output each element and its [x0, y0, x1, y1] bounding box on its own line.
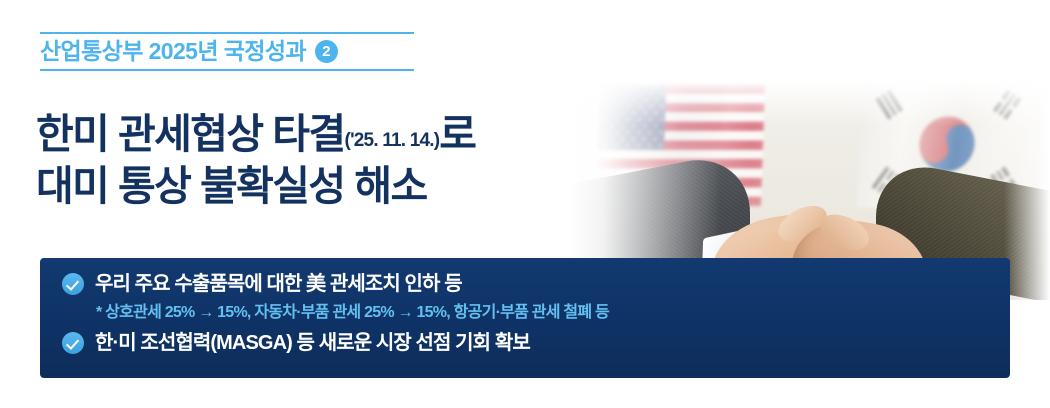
headline: 한미 관세협상 타결('25. 11. 14.)로 대미 통상 불확실성 해소	[36, 108, 596, 213]
check-circle-icon	[62, 273, 84, 295]
kicker-banner: 산업통상부 2025년 국정성과 2	[40, 32, 414, 71]
photo-top-fade	[570, 80, 1050, 126]
check-circle-icon	[62, 332, 84, 354]
headline-date-note: ('25. 11. 14.)	[345, 130, 440, 151]
bullet-item-1: 우리 주요 수출품목에 대한 美 관세조치 인하 등	[62, 272, 1010, 296]
photo-right-fade	[1004, 80, 1050, 300]
bullet-label-1: 우리 주요 수출품목에 대한 美 관세조치 인하 등	[95, 272, 462, 296]
headline-line-1: 한미 관세협상 타결('25. 11. 14.)로	[36, 108, 596, 160]
headline-line-2: 대미 통상 불확실성 해소	[36, 160, 596, 212]
bullet-label-2: 한·미 조선협력(MASGA) 등 새로운 시장 선점 기회 확보	[95, 331, 530, 355]
kicker-label: 산업통상부 2025년 국정성과	[40, 39, 306, 63]
bullet-subnote: * 상호관세 25% → 15%, 자동차·부품 관세 25% → 15%, 항…	[96, 303, 1010, 322]
headline-line-1-main: 한미 관세협상 타결	[36, 111, 345, 157]
kicker-number-badge: 2	[315, 40, 338, 63]
headline-line-1-suffix: 로	[439, 111, 475, 157]
bullet-item-2: 한·미 조선협력(MASGA) 등 새로운 시장 선점 기회 확보	[62, 331, 1010, 355]
highlights-panel: 우리 주요 수출품목에 대한 美 관세조치 인하 등 * 상호관세 25% → …	[40, 258, 1010, 378]
infographic-banner: 산업통상부 2025년 국정성과 2 한미 관세협상 타결('25. 11. 1…	[0, 0, 1050, 408]
